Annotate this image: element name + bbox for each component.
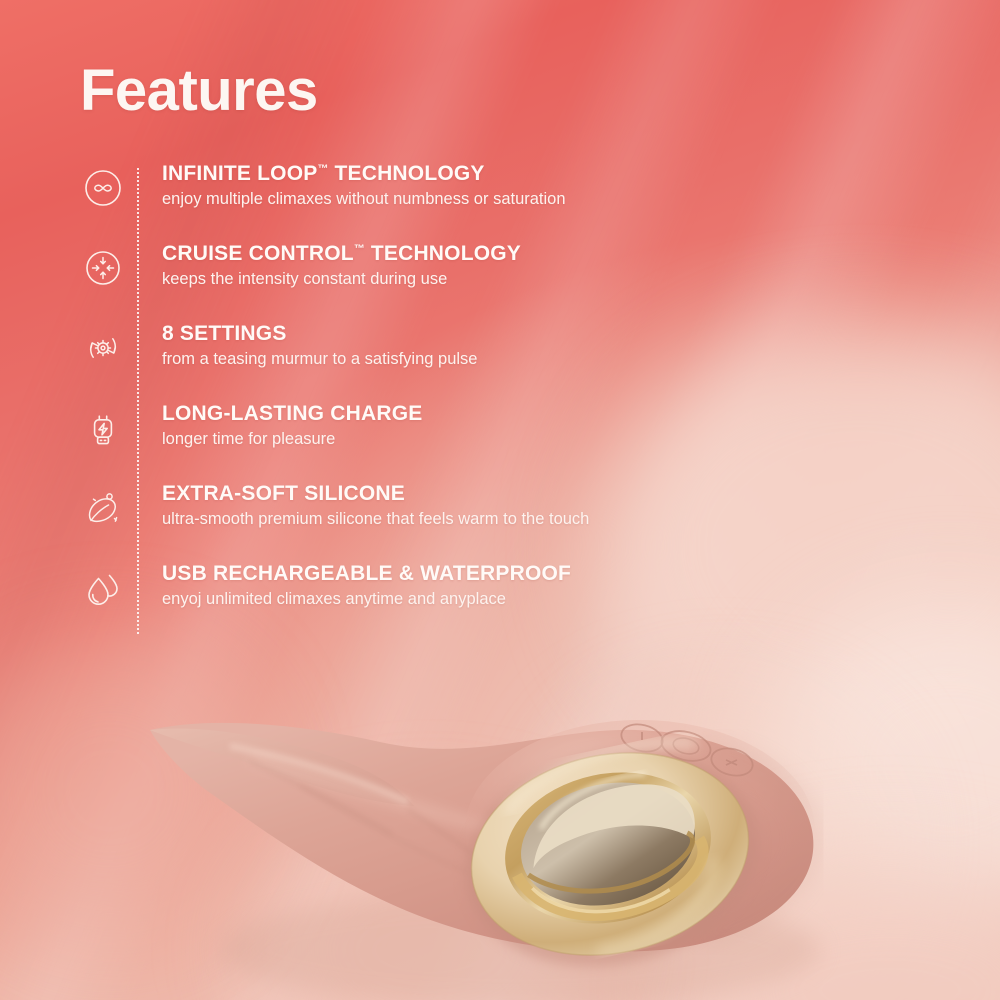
battery-bolt-icon bbox=[72, 400, 134, 452]
leaf-icon bbox=[72, 480, 134, 534]
feature-title: USB RECHARGEABLE & WATERPROOF bbox=[162, 562, 571, 585]
list-item: EXTRA-SOFT SILICONE ultra-smooth premium… bbox=[72, 480, 772, 560]
feature-list: INFINITE LOOP™ TECHNOLOGY enjoy multiple… bbox=[72, 160, 772, 640]
feature-text: EXTRA-SOFT SILICONE ultra-smooth premium… bbox=[162, 480, 589, 530]
feature-text: LONG-LASTING CHARGE longer time for plea… bbox=[162, 400, 422, 450]
list-item: LONG-LASTING CHARGE longer time for plea… bbox=[72, 400, 772, 480]
page-title: Features bbox=[80, 62, 318, 120]
feature-description: keeps the intensity constant during use bbox=[162, 270, 521, 290]
feature-graphic: Features INFINITE LOOP™ TECHNOLOGY enjoy… bbox=[0, 0, 1000, 1000]
feature-title: INFINITE LOOP™ TECHNOLOGY bbox=[162, 162, 566, 185]
feature-title: EXTRA-SOFT SILICONE bbox=[162, 482, 589, 505]
list-item: CRUISE CONTROL™ TECHNOLOGY keeps the int… bbox=[72, 240, 772, 320]
feature-title: LONG-LASTING CHARGE bbox=[162, 402, 422, 425]
feature-text: CRUISE CONTROL™ TECHNOLOGY keeps the int… bbox=[162, 240, 521, 290]
feature-text: 8 SETTINGS from a teasing murmur to a sa… bbox=[162, 320, 477, 370]
feature-text: USB RECHARGEABLE & WATERPROOF enyoj unli… bbox=[162, 560, 571, 610]
converging-arrows-icon bbox=[72, 240, 134, 292]
feature-description: longer time for pleasure bbox=[162, 430, 422, 450]
list-item: 8 SETTINGS from a teasing murmur to a sa… bbox=[72, 320, 772, 400]
feature-description: ultra-smooth premium silicone that feels… bbox=[162, 510, 589, 530]
feature-title: 8 SETTINGS bbox=[162, 322, 477, 345]
feature-title: CRUISE CONTROL™ TECHNOLOGY bbox=[162, 242, 521, 265]
feature-text: INFINITE LOOP™ TECHNOLOGY enjoy multiple… bbox=[162, 160, 566, 210]
feature-description: enyoj unlimited climaxes anytime and any… bbox=[162, 590, 571, 610]
water-drops-icon bbox=[72, 560, 134, 614]
gear-rotation-icon bbox=[72, 320, 134, 372]
feature-description: enjoy multiple climaxes without numbness… bbox=[162, 190, 566, 210]
infinity-icon bbox=[72, 160, 134, 212]
feature-description: from a teasing murmur to a satisfying pu… bbox=[162, 350, 477, 370]
product-image bbox=[0, 620, 1000, 1000]
list-item: INFINITE LOOP™ TECHNOLOGY enjoy multiple… bbox=[72, 160, 772, 240]
